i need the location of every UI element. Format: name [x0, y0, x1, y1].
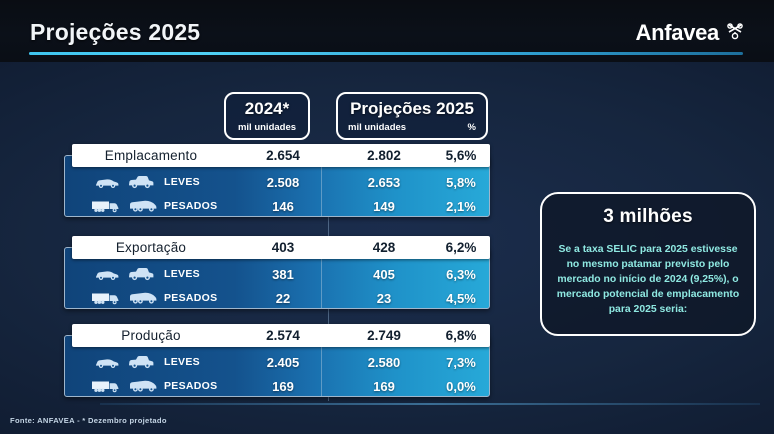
value-percent: 2,1%	[432, 199, 490, 214]
value-percent: 5,6%	[432, 148, 490, 163]
truck-icon	[91, 291, 121, 306]
value-2024: 2.574	[230, 328, 336, 343]
callout-text: Se a taxa SELIC para 2025 estivesse no m…	[554, 242, 742, 317]
truck-icon	[91, 379, 121, 394]
table-row: Produção 2.574 2.749 6,8%	[72, 324, 490, 347]
row-label: PESADOS	[164, 292, 230, 304]
value-2024: 2.508	[230, 175, 336, 190]
anfavea-logo: Anfavea	[636, 20, 745, 46]
category-label: Emplacamento	[72, 148, 230, 163]
bus-icon	[128, 199, 158, 213]
value-2025: 2.653	[336, 175, 432, 190]
column-header-2024: 2024* mil unidades	[224, 92, 310, 140]
row-label: LEVES	[164, 176, 230, 188]
bus-icon	[128, 291, 158, 305]
vehicle-icons-pesados	[72, 379, 164, 394]
column-header-2025-percent-label: %	[468, 122, 476, 133]
value-percent: 6,3%	[432, 267, 490, 282]
value-percent: 0,0%	[432, 379, 490, 394]
value-2024: 403	[230, 240, 336, 255]
bus-icon	[128, 379, 158, 393]
vehicle-icons-pesados	[72, 199, 164, 214]
table-row: Emplacamento 2.654 2.802 5,6%	[72, 144, 490, 167]
source-note: Fonte: ANFAVEA - * Dezembro projetado	[10, 416, 167, 425]
anfavea-mark-icon	[726, 23, 744, 43]
row-label: LEVES	[164, 268, 230, 280]
vehicle-icons-leves	[72, 267, 164, 281]
column-header-2024-title: 2024*	[245, 100, 289, 117]
car-icon	[94, 268, 120, 281]
table-row: LEVES 381 405 6,3%	[72, 262, 490, 286]
vehicle-icons-leves	[72, 175, 164, 189]
value-2025: 149	[336, 199, 432, 214]
value-2025: 23	[336, 291, 432, 306]
value-2025: 2.580	[336, 355, 432, 370]
page-title: Projeções 2025	[30, 19, 200, 46]
value-2025: 2.802	[336, 148, 432, 163]
logo-text: Anfavea	[636, 20, 720, 46]
row-label: PESADOS	[164, 380, 230, 392]
pickup-icon	[127, 355, 155, 369]
row-label: LEVES	[164, 356, 230, 368]
category-label: Exportação	[72, 240, 230, 255]
row-label: PESADOS	[164, 200, 230, 212]
column-header-2025-title: Projeções 2025	[350, 100, 474, 117]
vehicle-icons-leves	[72, 355, 164, 369]
callout-title: 3 milhões	[603, 206, 692, 228]
column-header-2025-units: mil unidades	[348, 122, 406, 133]
value-2025: 2.749	[336, 328, 432, 343]
table-row: LEVES 2.508 2.653 5,8%	[72, 170, 490, 194]
value-percent: 7,3%	[432, 355, 490, 370]
table-row: Exportação 403 428 6,2%	[72, 236, 490, 259]
value-2024: 146	[230, 199, 336, 214]
column-header-2025-subrow: mil unidades %	[338, 122, 486, 133]
column-header-2024-units: mil unidades	[238, 122, 296, 133]
value-2024: 169	[230, 379, 336, 394]
truck-icon	[91, 199, 121, 214]
category-label: Produção	[72, 328, 230, 343]
footer-rule	[100, 403, 760, 405]
table-row: PESADOS 146 149 2,1%	[72, 194, 490, 218]
value-2024: 22	[230, 291, 336, 306]
value-percent: 6,8%	[432, 328, 490, 343]
value-percent: 4,5%	[432, 291, 490, 306]
value-2025: 428	[336, 240, 432, 255]
header-bar: Projeções 2025 Anfavea	[0, 0, 774, 62]
value-2025: 169	[336, 379, 432, 394]
value-2024: 381	[230, 267, 336, 282]
vehicle-icons-pesados	[72, 291, 164, 306]
table-row: LEVES 2.405 2.580 7,3%	[72, 350, 490, 374]
value-percent: 6,2%	[432, 240, 490, 255]
car-icon	[94, 176, 120, 189]
table-row: PESADOS 22 23 4,5%	[72, 286, 490, 310]
slide-root: Projeções 2025 Anfavea 2024* mil unidade…	[0, 0, 774, 434]
value-2024: 2.405	[230, 355, 336, 370]
selic-callout-box: 3 milhões Se a taxa SELIC para 2025 esti…	[540, 192, 756, 336]
pickup-icon	[127, 267, 155, 281]
table-row: PESADOS 169 169 0,0%	[72, 374, 490, 398]
value-2025: 405	[336, 267, 432, 282]
pickup-icon	[127, 175, 155, 189]
header-accent-rule	[29, 52, 743, 55]
value-percent: 5,8%	[432, 175, 490, 190]
value-2024: 2.654	[230, 148, 336, 163]
column-header-2025: Projeções 2025 mil unidades %	[336, 92, 488, 140]
car-icon	[94, 356, 120, 369]
